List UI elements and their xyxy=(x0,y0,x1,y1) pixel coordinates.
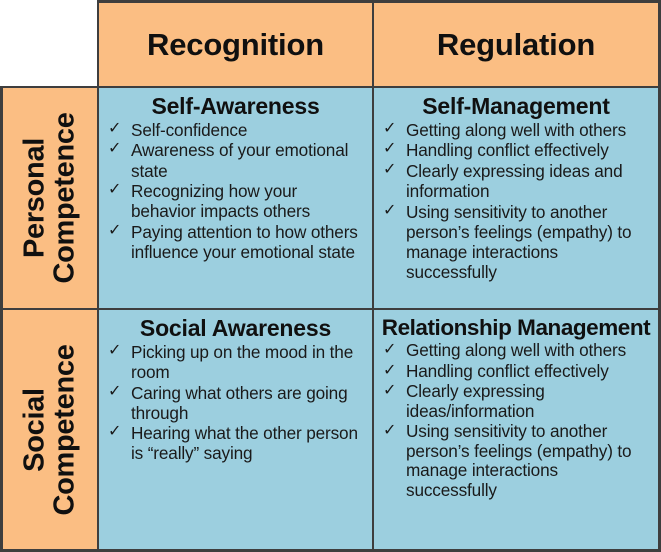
list-item: ✓ Handling conflict effectively xyxy=(381,362,651,382)
list-item: ✓ Getting along well with others xyxy=(381,341,651,361)
list-item: ✓ Handling conflict effectively xyxy=(381,140,651,160)
cell-self-management: Self-Management ✓ Getting along well wit… xyxy=(372,86,661,310)
cell-title: Relationship Management xyxy=(381,316,651,340)
row-header-label: Personal Competence xyxy=(20,112,79,283)
cell-bullet-list: ✓ Self-confidence ✓ Awareness of your em… xyxy=(106,120,365,262)
list-item: ✓ Using sensitivity to another person’s … xyxy=(381,422,651,501)
list-item-text: Self-confidence xyxy=(131,120,247,140)
list-item: ✓ Recognizing how your behavior impacts … xyxy=(106,181,365,221)
cell-title: Social Awareness xyxy=(106,316,365,341)
check-icon: ✓ xyxy=(108,181,121,200)
cell-bullet-list: ✓ Getting along well with others ✓ Handl… xyxy=(381,341,651,501)
column-header-label: Regulation xyxy=(437,29,595,60)
cell-title: Self-Awareness xyxy=(106,94,365,119)
list-item-text: Using sensitivity to another person’s fe… xyxy=(406,202,631,282)
column-header-label: Recognition xyxy=(147,29,324,60)
list-item-text: Handling conflict effectively xyxy=(406,361,609,381)
cell-bullet-list: ✓ Getting along well with others ✓ Handl… xyxy=(381,120,651,283)
check-icon: ✓ xyxy=(108,120,121,139)
row-header-label-line-1: Social xyxy=(20,344,50,515)
check-icon: ✓ xyxy=(383,422,396,441)
check-icon: ✓ xyxy=(108,140,121,159)
list-item: ✓ Hearing what the other person is “real… xyxy=(106,423,365,463)
list-item: ✓ Picking up on the mood in the room xyxy=(106,342,365,382)
list-item-text: Recognizing how your behavior impacts ot… xyxy=(131,181,310,221)
cell-relationship-management: Relationship Management ✓ Getting along … xyxy=(372,308,661,552)
list-item: ✓ Awareness of your emotional state xyxy=(106,140,365,180)
cell-title: Self-Management xyxy=(381,94,651,119)
list-item-text: Getting along well with others xyxy=(406,340,626,360)
check-icon: ✓ xyxy=(383,382,396,401)
list-item: ✓ Caring what others are going through xyxy=(106,383,365,423)
list-item-text: Getting along well with others xyxy=(406,120,626,140)
check-icon: ✓ xyxy=(383,202,396,221)
check-icon: ✓ xyxy=(108,423,121,442)
list-item: ✓ Self-confidence xyxy=(106,120,365,140)
row-header-personal-competence: Personal Competence xyxy=(0,86,99,310)
cell-social-awareness: Social Awareness ✓ Picking up on the moo… xyxy=(97,308,374,552)
row-header-label: Social Competence xyxy=(20,344,79,515)
cell-bullet-list: ✓ Picking up on the mood in the room ✓ C… xyxy=(106,342,365,464)
list-item: ✓ Clearly expressing ideas and informati… xyxy=(381,161,651,201)
check-icon: ✓ xyxy=(383,120,396,139)
row-header-label-line-2: Competence xyxy=(50,344,80,515)
list-item: ✓ Clearly expressing ideas/information xyxy=(381,382,651,422)
list-item-text: Awareness of your emotional state xyxy=(131,140,348,180)
check-icon: ✓ xyxy=(108,383,121,402)
list-item-text: Picking up on the mood in the room xyxy=(131,342,353,382)
row-header-social-competence: Social Competence xyxy=(0,308,99,552)
list-item: ✓ Paying attention to how others influen… xyxy=(106,222,365,262)
list-item-text: Using sensitivity to another person’s fe… xyxy=(406,421,631,500)
list-item: ✓ Getting along well with others xyxy=(381,120,651,140)
check-icon: ✓ xyxy=(108,222,121,241)
check-icon: ✓ xyxy=(383,362,396,381)
check-icon: ✓ xyxy=(383,161,396,180)
column-header-regulation: Regulation xyxy=(372,0,661,88)
row-header-label-line-2: Competence xyxy=(50,112,80,283)
list-item-text: Caring what others are going through xyxy=(131,383,348,423)
row-header-label-line-1: Personal xyxy=(20,112,50,283)
check-icon: ✓ xyxy=(383,341,396,360)
check-icon: ✓ xyxy=(108,342,121,361)
check-icon: ✓ xyxy=(383,140,396,159)
cell-self-awareness: Self-Awareness ✓ Self-confidence ✓ Aware… xyxy=(97,86,374,310)
list-item-text: Hearing what the other person is “really… xyxy=(131,423,358,463)
competence-matrix: Recognition Regulation Personal Competen… xyxy=(0,0,661,552)
matrix-corner-cell xyxy=(0,0,99,88)
list-item-text: Handling conflict effectively xyxy=(406,140,609,160)
column-header-recognition: Recognition xyxy=(97,0,374,88)
list-item: ✓ Using sensitivity to another person’s … xyxy=(381,202,651,283)
list-item-text: Clearly expressing ideas/information xyxy=(406,381,545,421)
list-item-text: Clearly expressing ideas and information xyxy=(406,161,623,201)
list-item-text: Paying attention to how others influence… xyxy=(131,222,358,262)
